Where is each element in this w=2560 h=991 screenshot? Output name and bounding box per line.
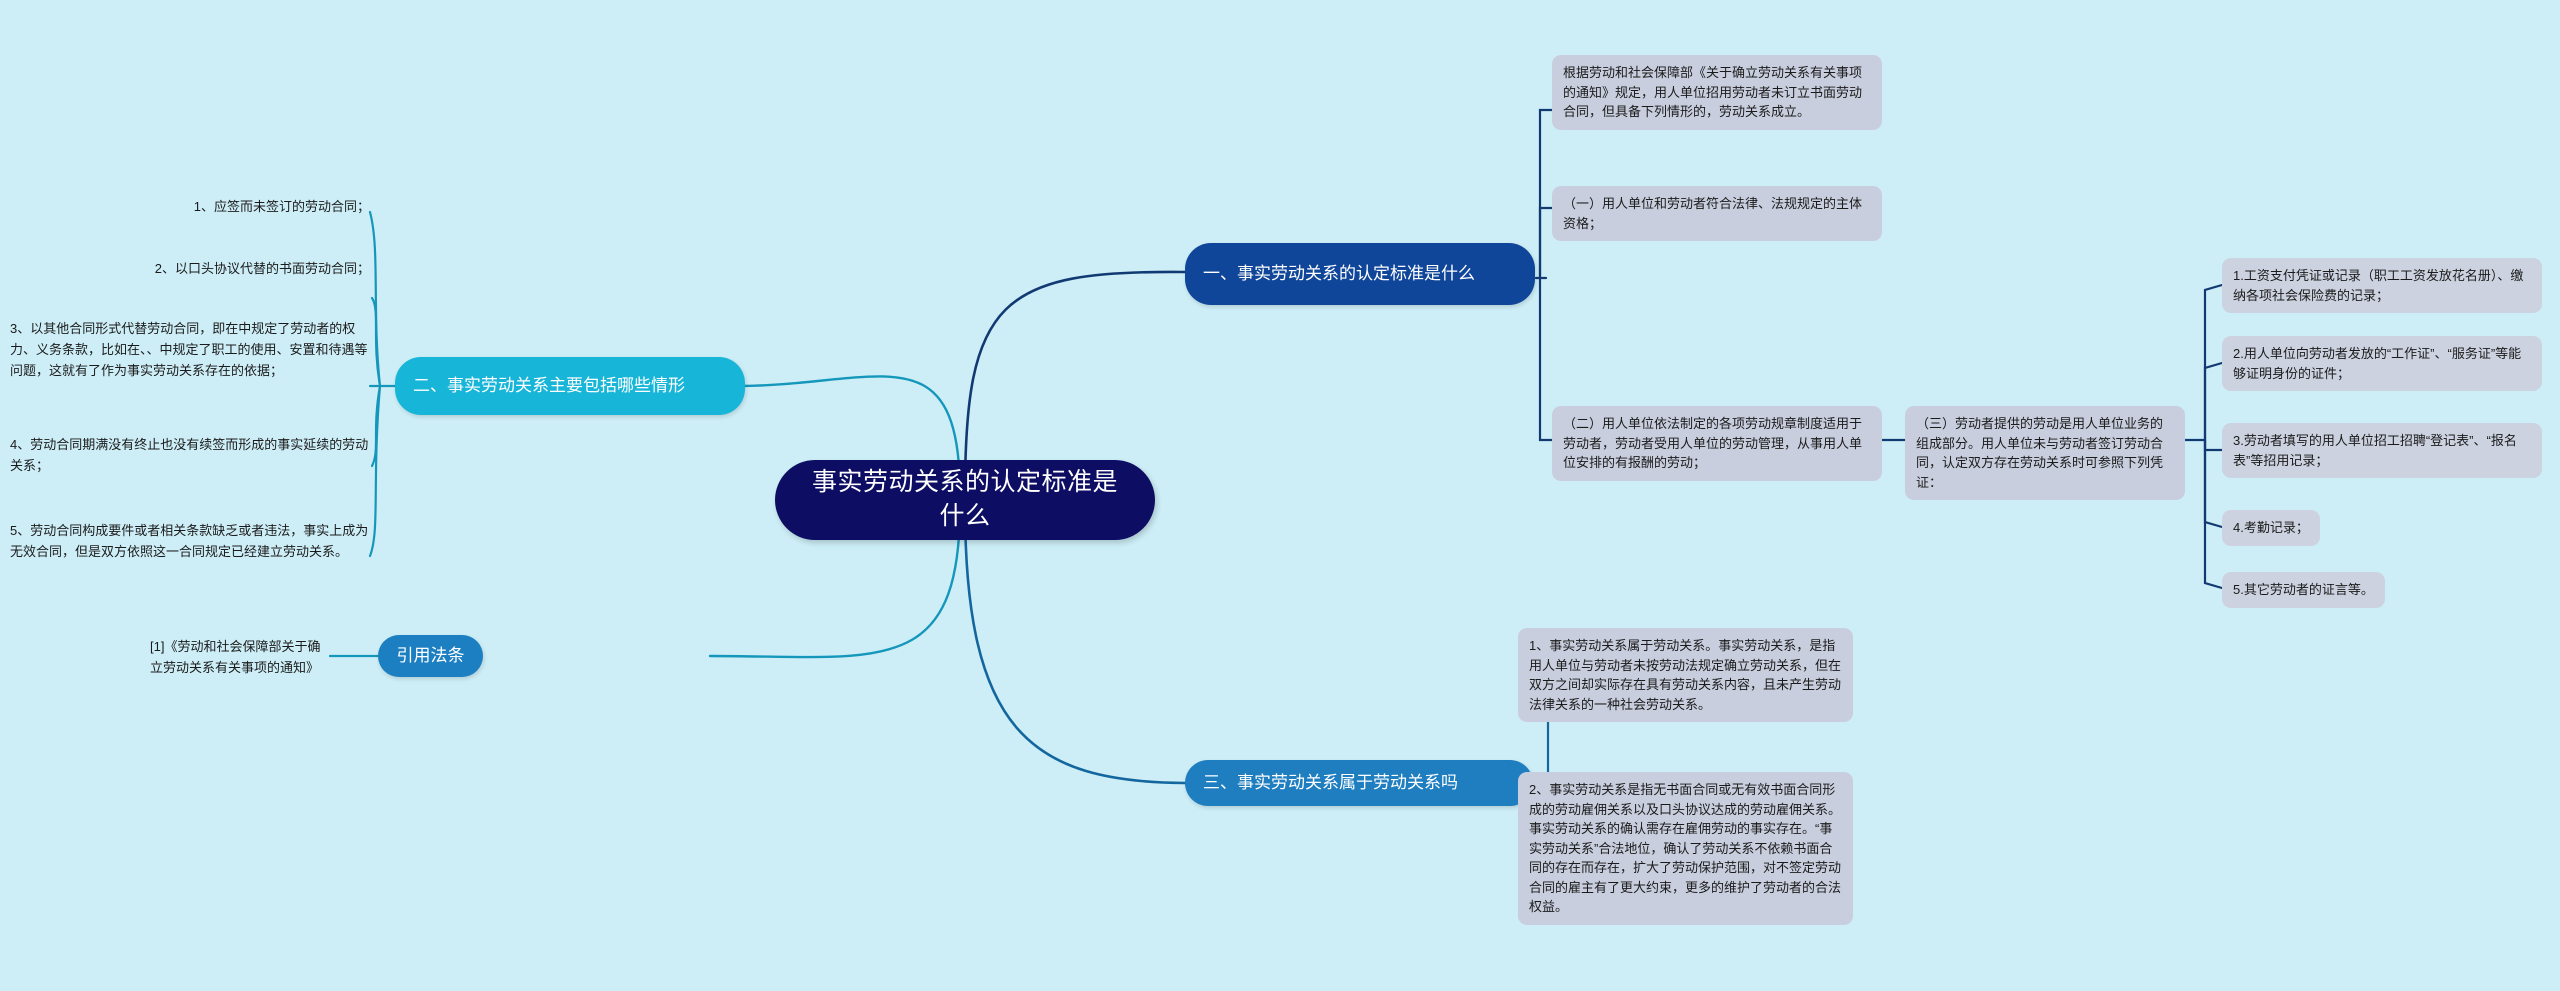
evidence-item-4-text: 4.考勤记录； bbox=[2222, 510, 2320, 546]
branch-one-child-2[interactable]: （二）用人单位依法制定的各项劳动规章制度适用于劳动者，劳动者受用人单位的劳动管理… bbox=[1552, 406, 1882, 481]
branch-two-child-2-text: 3、以其他合同形式代替劳动合同，即在中规定了劳动者的权力、义务条款，比如在、、中… bbox=[10, 318, 370, 381]
branch-three-label: 三、事实劳动关系属于劳动关系吗 bbox=[1203, 772, 1458, 795]
branch-two-child-3-text: 4、劳动合同期满没有终止也没有续签而形成的事实延续的劳动关系； bbox=[10, 434, 370, 476]
branch-one-label: 一、事实劳动关系的认定标准是什么 bbox=[1203, 263, 1475, 286]
branch-one-node[interactable]: 一、事实劳动关系的认定标准是什么 bbox=[1185, 243, 1535, 305]
evidence-item-5[interactable]: 5.其它劳动者的证言等。 bbox=[2222, 572, 2457, 608]
branch-two-child-0[interactable]: 1、应签而未签订的劳动合同； bbox=[10, 196, 370, 217]
branch-three-child-1-text: 2、事实劳动关系是指无书面合同或无有效书面合同形成的劳动雇佣关系以及口头协议达成… bbox=[1518, 772, 1853, 925]
evidence-item-1[interactable]: 1.工资支付凭证或记录（职工工资发放花名册）、缴纳各项社会保险费的记录； bbox=[2222, 258, 2542, 313]
branch-one-grandchild[interactable]: （三）劳动者提供的劳动是用人单位业务的组成部分。用人单位未与劳动者签订劳动合同，… bbox=[1905, 406, 2185, 500]
branch-one-child-0[interactable]: 根据劳动和社会保障部《关于确立劳动关系有关事项的通知》规定，用人单位招用劳动者未… bbox=[1552, 55, 1882, 130]
branch-one-child-1-text: （一）用人单位和劳动者符合法律、法规规定的主体资格； bbox=[1552, 186, 1882, 241]
evidence-item-3-text: 3.劳动者填写的用人单位招工招聘“登记表”、“报名表”等招用记录； bbox=[2222, 423, 2542, 478]
branch-one-child-0-text: 根据劳动和社会保障部《关于确立劳动关系有关事项的通知》规定，用人单位招用劳动者未… bbox=[1552, 55, 1882, 130]
branch-one-child-2-text: （二）用人单位依法制定的各项劳动规章制度适用于劳动者，劳动者受用人单位的劳动管理… bbox=[1552, 406, 1882, 481]
branch-two-label: 二、事实劳动关系主要包括哪些情形 bbox=[413, 375, 685, 398]
branch-one-grandchild-text: （三）劳动者提供的劳动是用人单位业务的组成部分。用人单位未与劳动者签订劳动合同，… bbox=[1905, 406, 2185, 500]
branch-three-child-0-text: 1、事实劳动关系属于劳动关系。事实劳动关系，是指用人单位与劳动者未按劳动法规定确… bbox=[1518, 628, 1853, 722]
evidence-item-2-text: 2.用人单位向劳动者发放的“工作证”、“服务证”等能够证明身份的证件； bbox=[2222, 336, 2542, 391]
mindmap-canvas: 事实劳动关系的认定标准是什么 一、事实劳动关系的认定标准是什么 根据劳动和社会保… bbox=[0, 0, 2560, 991]
evidence-item-2[interactable]: 2.用人单位向劳动者发放的“工作证”、“服务证”等能够证明身份的证件； bbox=[2222, 336, 2542, 391]
branch-two-child-4[interactable]: 5、劳动合同构成要件或者相关条款缺乏或者违法，事实上成为无效合同，但是双方依照这… bbox=[10, 520, 370, 562]
citation-node[interactable]: 引用法条 bbox=[378, 635, 483, 677]
branch-three-child-0[interactable]: 1、事实劳动关系属于劳动关系。事实劳动关系，是指用人单位与劳动者未按劳动法规定确… bbox=[1518, 628, 1853, 722]
branch-two-node[interactable]: 二、事实劳动关系主要包括哪些情形 bbox=[395, 357, 745, 415]
evidence-item-4[interactable]: 4.考勤记录； bbox=[2222, 510, 2432, 546]
root-node[interactable]: 事实劳动关系的认定标准是什么 bbox=[775, 460, 1155, 540]
branch-three-node[interactable]: 三、事实劳动关系属于劳动关系吗 bbox=[1185, 760, 1533, 806]
citation-child-0[interactable]: [1]《劳动和社会保障部关于确立劳动关系有关事项的通知》 bbox=[150, 636, 325, 678]
branch-two-child-0-text: 1、应签而未签订的劳动合同； bbox=[194, 196, 370, 217]
branch-one-child-1[interactable]: （一）用人单位和劳动者符合法律、法规规定的主体资格； bbox=[1552, 186, 1882, 241]
branch-two-child-2[interactable]: 3、以其他合同形式代替劳动合同，即在中规定了劳动者的权力、义务条款，比如在、、中… bbox=[10, 318, 370, 381]
root-node-label: 事实劳动关系的认定标准是什么 bbox=[801, 466, 1129, 534]
evidence-item-3[interactable]: 3.劳动者填写的用人单位招工招聘“登记表”、“报名表”等招用记录； bbox=[2222, 423, 2542, 478]
branch-two-child-4-text: 5、劳动合同构成要件或者相关条款缺乏或者违法，事实上成为无效合同，但是双方依照这… bbox=[10, 520, 370, 562]
citation-label: 引用法条 bbox=[397, 645, 465, 668]
branch-two-child-1[interactable]: 2、以口头协议代替的书面劳动合同； bbox=[10, 258, 370, 279]
evidence-item-5-text: 5.其它劳动者的证言等。 bbox=[2222, 572, 2385, 608]
branch-two-child-1-text: 2、以口头协议代替的书面劳动合同； bbox=[155, 258, 370, 279]
branch-two-child-3[interactable]: 4、劳动合同期满没有终止也没有续签而形成的事实延续的劳动关系； bbox=[10, 434, 370, 476]
evidence-item-1-text: 1.工资支付凭证或记录（职工工资发放花名册）、缴纳各项社会保险费的记录； bbox=[2222, 258, 2542, 313]
branch-three-child-1[interactable]: 2、事实劳动关系是指无书面合同或无有效书面合同形成的劳动雇佣关系以及口头协议达成… bbox=[1518, 772, 1853, 925]
citation-child-0-text: [1]《劳动和社会保障部关于确立劳动关系有关事项的通知》 bbox=[150, 636, 325, 678]
